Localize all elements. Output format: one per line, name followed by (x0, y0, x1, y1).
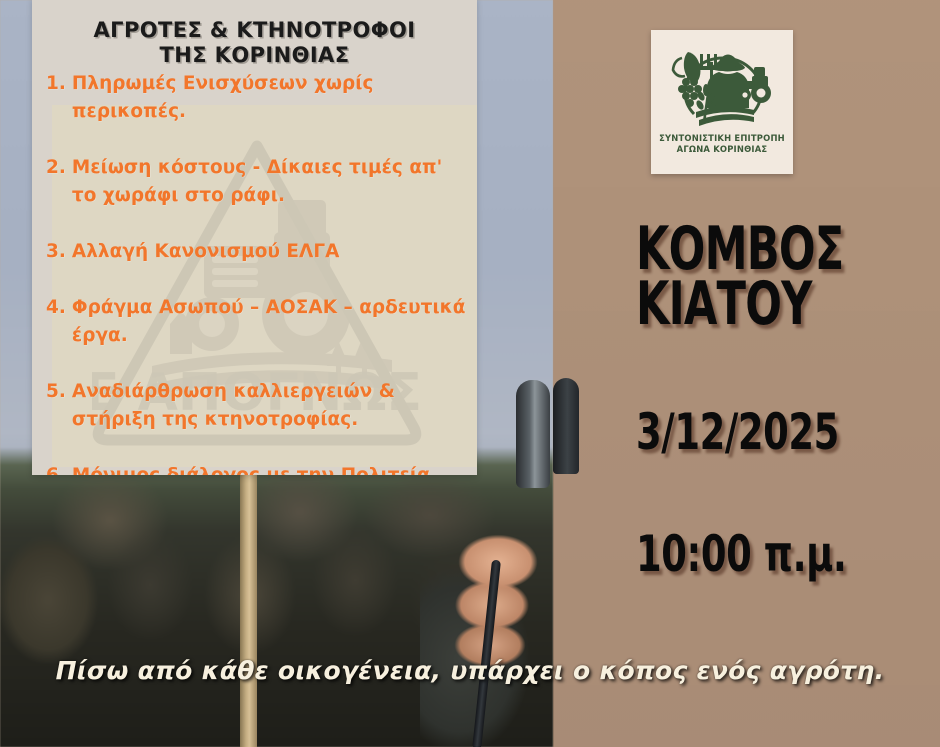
title-line-2: ΤΗΣ ΚΟΡΙΝΘΙΑΣ (160, 43, 350, 67)
demand-text: Αλλαγή Κανονισμού ΕΛΓΑ (72, 238, 469, 266)
demand-number: 2. (46, 154, 66, 182)
organisation-name-line-2: ΑΓΩΝΑ ΚΟΡΙΝΘΙΑΣ (677, 144, 768, 154)
demand-item: 5.Αναδιάρθρωση καλλιεργειών & στήριξη τη… (46, 378, 469, 434)
placard-pole (240, 474, 257, 747)
organisation-logo-card: ΣΥΝΤΟΝΙΣΤΙΚΗ ΕΠΙΤΡΟΠΗ ΑΓΩΝΑ ΚΟΡΙΝΘΙΑΣ (651, 30, 793, 174)
farmer-tractor-emblem-icon (666, 36, 778, 132)
demand-number: 4. (46, 294, 66, 322)
microphone-head-icon (516, 380, 550, 488)
event-location-line-2: ΚΙΑΤΟΥ (636, 269, 812, 339)
title-line-1: ΑΓΡΟΤΕΣ & ΚΤΗΝΟΤΡΟΦΟΙ (94, 18, 416, 42)
demands-panel: ΣΕ ΑΠΟΓΝΩΣΗ ΑΓΡΟΤΕΣ & ΚΤΗΝΟΤΡΟΦΟΙ ΤΗΣ ΚΟ… (32, 0, 477, 475)
event-time: 10:00 π.μ. (636, 528, 898, 580)
demand-text: Μείωση κόστους - Δίκαιες τιμές απ' το χω… (72, 154, 469, 210)
demand-text: Φράγμα Ασωπού – ΑΟΣΑΚ – αρδευτικά έργα. (72, 294, 469, 350)
organisation-name-line-1: ΣΥΝΤΟΝΙΣΤΙΚΗ ΕΠΙΤΡΟΠΗ (659, 133, 785, 143)
demand-number: 5. (46, 378, 66, 406)
demand-item: 3.Αλλαγή Κανονισμού ΕΛΓΑ (46, 238, 469, 266)
page-title: ΑΓΡΟΤΕΣ & ΚΤΗΝΟΤΡΟΦΟΙ ΤΗΣ ΚΟΡΙΝΘΙΑΣ (32, 18, 477, 68)
demand-number: 3. (46, 238, 66, 266)
protest-announcement-poster: ΣΕ ΑΠΟΓΝΩΣΗ ΑΓΡΟΤΕΣ & ΚΤΗΝΟΤΡΟΦΟΙ ΤΗΣ ΚΟ… (0, 0, 940, 747)
demand-item: 2.Μείωση κόστους - Δίκαιες τιμές απ' το … (46, 154, 469, 210)
demand-text: Αναδιάρθρωση καλλιεργειών & στήριξη της … (72, 378, 469, 434)
demand-text: Πληρωμές Ενισχύσεων χωρίς περικοπές. (72, 70, 469, 126)
demand-text: Μόνιμος διάλογος με την Πολιτεία. (72, 462, 469, 475)
organisation-name: ΣΥΝΤΟΝΙΣΤΙΚΗ ΕΠΙΤΡΟΠΗ ΑΓΩΝΑ ΚΟΡΙΝΘΙΑΣ (659, 133, 785, 155)
demand-number: 1. (46, 70, 66, 98)
event-location: ΚΟΜΒΟΣ ΚΙΑΤΟΥ (636, 222, 876, 332)
poster-tagline: Πίσω από κάθε οικογένεια, υπάρχει ο κόπο… (0, 656, 940, 685)
event-date: 3/12/2025 (636, 406, 898, 458)
demand-item: 4.Φράγμα Ασωπού – ΑΟΣΑΚ – αρδευτικά έργα… (46, 294, 469, 350)
demands-list: 1.Πληρωμές Ενισχύσεων χωρίς περικοπές.2.… (46, 70, 469, 475)
demand-item: 1.Πληρωμές Ενισχύσεων χωρίς περικοπές. (46, 70, 469, 126)
demand-number: 6. (46, 462, 66, 475)
demand-item: 6.Μόνιμος διάλογος με την Πολιτεία. (46, 462, 469, 475)
microphone-right-edge (553, 378, 579, 474)
